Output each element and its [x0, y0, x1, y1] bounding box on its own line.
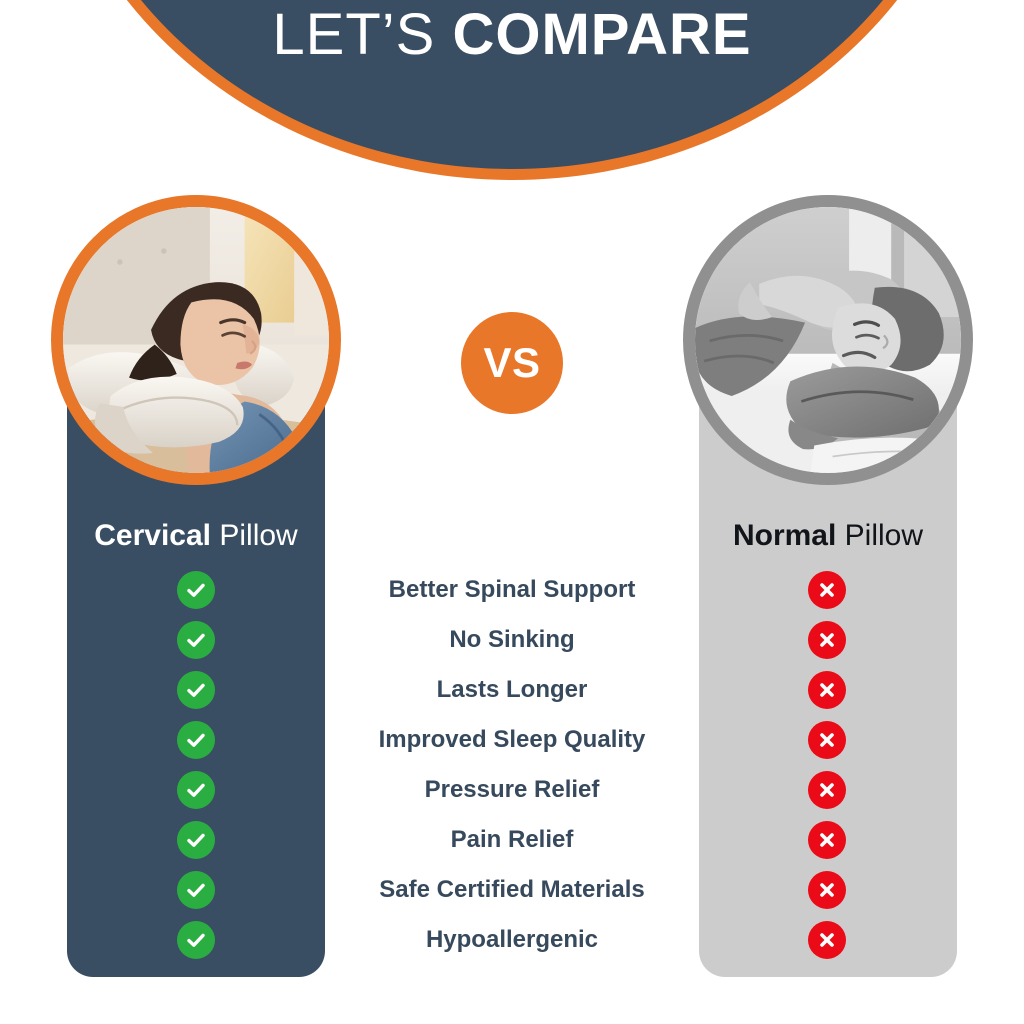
normal-mark-5	[797, 815, 857, 865]
table-row: Pain Relief	[0, 815, 1024, 865]
cervical-mark-2	[166, 665, 226, 715]
check-icon	[177, 921, 215, 959]
cervical-mark-1	[166, 615, 226, 665]
table-row: Safe Certified Materials	[0, 865, 1024, 915]
feature-label: Pain Relief	[337, 828, 687, 852]
cervical-mark-4	[166, 765, 226, 815]
normal-mark-2	[797, 665, 857, 715]
check-icon	[177, 771, 215, 809]
comparison-rows: Better Spinal Support No Sinking	[0, 565, 1024, 965]
cervical-mark-0	[166, 565, 226, 615]
check-icon	[177, 571, 215, 609]
column-label-normal: Normal Pillow	[699, 521, 957, 551]
feature-label: Safe Certified Materials	[337, 878, 687, 902]
cervical-mark-5	[166, 815, 226, 865]
feature-label: No Sinking	[337, 628, 687, 652]
cross-icon	[808, 771, 846, 809]
check-icon	[177, 871, 215, 909]
normal-mark-7	[797, 915, 857, 965]
photo-circle-cervical	[51, 195, 341, 485]
page-title: LET’S COMPARE	[272, 6, 751, 64]
column-label-cervical: Cervical Pillow	[67, 521, 325, 551]
feature-label: Improved Sleep Quality	[337, 728, 687, 752]
cervical-mark-6	[166, 865, 226, 915]
photo-cervical-pillow	[63, 207, 329, 473]
cross-icon	[808, 921, 846, 959]
normal-mark-3	[797, 715, 857, 765]
column-label-normal-bold: Normal	[733, 519, 845, 552]
feature-label: Better Spinal Support	[337, 578, 687, 602]
column-label-cervical-bold: Cervical	[94, 519, 219, 552]
cervical-mark-7	[166, 915, 226, 965]
cross-icon	[808, 671, 846, 709]
title-part-compare: COMPARE	[452, 2, 751, 67]
check-icon	[177, 621, 215, 659]
cross-icon	[808, 621, 846, 659]
feature-label: Pressure Relief	[337, 778, 687, 802]
normal-mark-4	[797, 765, 857, 815]
table-row: Lasts Longer	[0, 665, 1024, 715]
photo-circle-normal	[683, 195, 973, 485]
column-label-normal-light: Pillow	[845, 519, 923, 552]
table-row: Better Spinal Support	[0, 565, 1024, 615]
table-row: Improved Sleep Quality	[0, 715, 1024, 765]
cervical-mark-3	[166, 715, 226, 765]
header-dome: LET’S COMPARE	[36, 0, 988, 180]
title-part-lets: LET’S	[272, 2, 452, 67]
feature-label: Hypoallergenic	[337, 928, 687, 952]
cross-icon	[808, 721, 846, 759]
check-icon	[177, 671, 215, 709]
vs-badge-label: VS	[483, 342, 540, 384]
normal-mark-6	[797, 865, 857, 915]
check-icon	[177, 721, 215, 759]
column-label-cervical-light: Pillow	[219, 519, 297, 552]
photo-cervical-illustration	[63, 207, 329, 473]
table-row: Pressure Relief	[0, 765, 1024, 815]
vs-badge: VS	[461, 312, 563, 414]
infographic-canvas: LET’S COMPARE Cervical Pillow Normal Pil…	[0, 0, 1024, 1024]
table-row: No Sinking	[0, 615, 1024, 665]
photo-normal-pillow	[695, 207, 961, 473]
table-row: Hypoallergenic	[0, 915, 1024, 965]
photo-normal-illustration	[695, 207, 961, 473]
cross-icon	[808, 571, 846, 609]
normal-mark-0	[797, 565, 857, 615]
cross-icon	[808, 821, 846, 859]
normal-mark-1	[797, 615, 857, 665]
check-icon	[177, 821, 215, 859]
feature-label: Lasts Longer	[337, 678, 687, 702]
cross-icon	[808, 871, 846, 909]
